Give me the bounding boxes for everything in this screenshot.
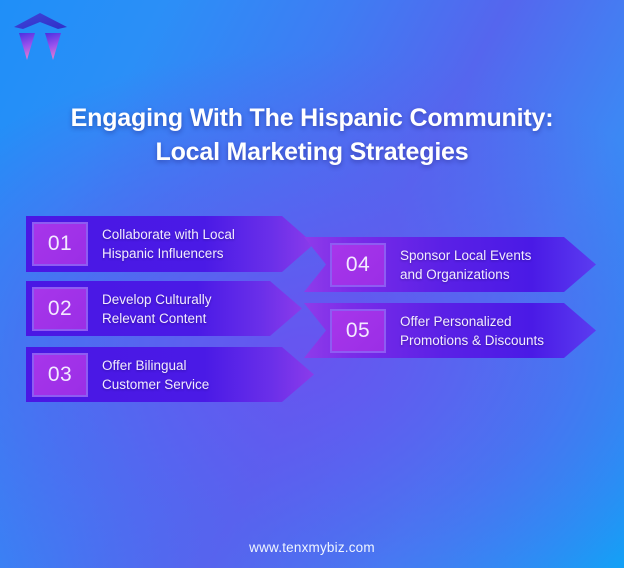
item-label-line-1: Collaborate with Local bbox=[102, 227, 235, 242]
list-item-04[interactable]: 04 Sponsor Local Events and Organization… bbox=[304, 237, 596, 292]
item-label-line-1: Develop Culturally bbox=[102, 292, 212, 307]
item-label: Develop Culturally Relevant Content bbox=[102, 290, 212, 328]
item-number-badge: 02 bbox=[32, 287, 88, 331]
list-item-03[interactable]: 03 Offer Bilingual Customer Service bbox=[26, 347, 314, 402]
item-label: Collaborate with Local Hispanic Influenc… bbox=[102, 225, 235, 263]
item-label-line-1: Offer Bilingual bbox=[102, 358, 187, 373]
list-item-02[interactable]: 02 Develop Culturally Relevant Content bbox=[26, 281, 302, 336]
infographic-poster: Engaging With The Hispanic Community: Lo… bbox=[0, 0, 624, 568]
item-label-line-2: Relevant Content bbox=[102, 309, 212, 328]
item-number-badge: 03 bbox=[32, 353, 88, 397]
website-url[interactable]: www.tenxmybiz.com bbox=[0, 540, 624, 555]
item-number-badge: 04 bbox=[330, 243, 386, 287]
item-label-line-2: and Organizations bbox=[400, 265, 531, 284]
item-label: Offer Personalized Promotions & Discount… bbox=[400, 312, 544, 350]
item-label-line-2: Customer Service bbox=[102, 375, 209, 394]
list-item-05[interactable]: 05 Offer Personalized Promotions & Disco… bbox=[304, 303, 596, 358]
item-label-line-2: Hispanic Influencers bbox=[102, 244, 235, 263]
item-label-line-2: Promotions & Discounts bbox=[400, 331, 544, 350]
list-item-01[interactable]: 01 Collaborate with Local Hispanic Influ… bbox=[26, 216, 314, 272]
item-number-badge: 01 bbox=[32, 222, 88, 266]
strategy-list: 01 Collaborate with Local Hispanic Influ… bbox=[0, 0, 624, 568]
item-label: Sponsor Local Events and Organizations bbox=[400, 246, 531, 284]
item-number-badge: 05 bbox=[330, 309, 386, 353]
item-label-line-1: Sponsor Local Events bbox=[400, 248, 531, 263]
item-label: Offer Bilingual Customer Service bbox=[102, 356, 209, 394]
item-label-line-1: Offer Personalized bbox=[400, 314, 512, 329]
